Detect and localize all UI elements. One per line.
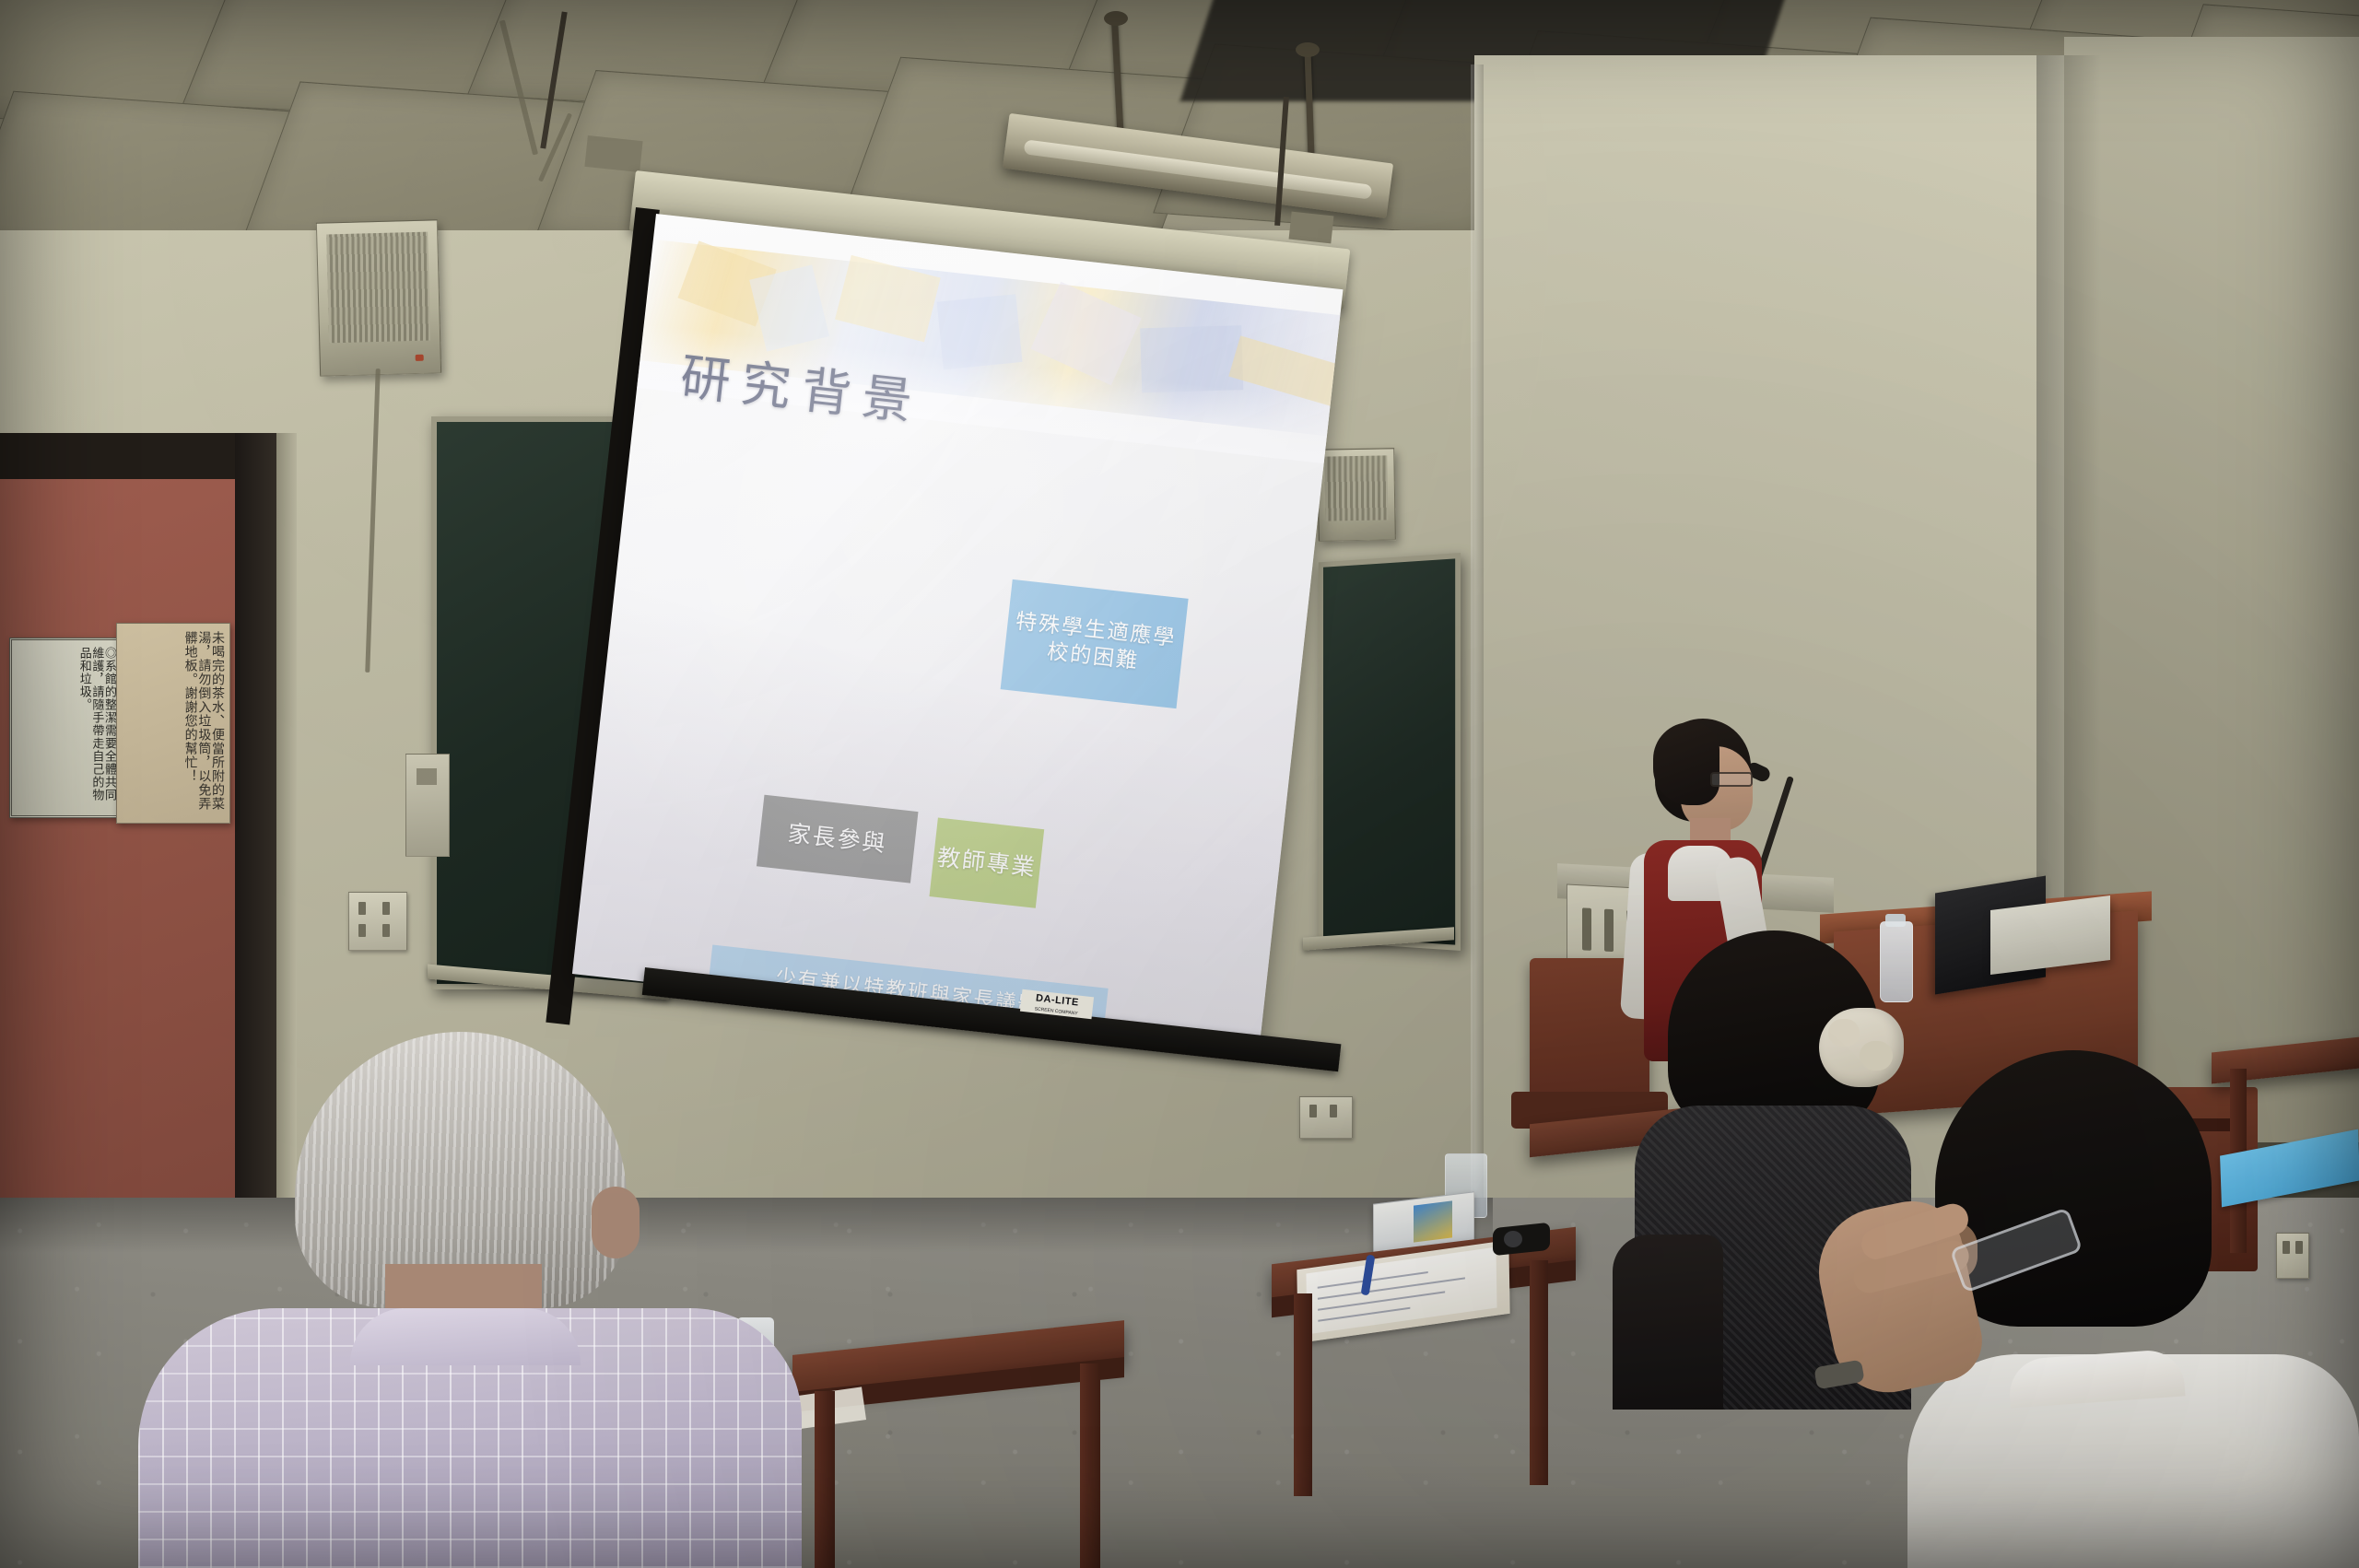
speaker-grill-icon: [327, 231, 430, 344]
slide-box-gray: 家長參與: [757, 795, 919, 883]
wall-outlet-left[interactable]: [348, 892, 407, 951]
slide-box-green: 教師專業: [929, 818, 1044, 908]
wall-speaker-right: [1317, 448, 1396, 541]
speaker-led-icon: [415, 355, 423, 361]
tissue-box-graphic: [1414, 1200, 1452, 1242]
center-desk-leg-left: [1294, 1293, 1312, 1496]
presenter-glasses-icon: [1710, 772, 1753, 787]
wall-speaker-left: [316, 219, 441, 376]
desk-leg-left: [815, 1391, 835, 1568]
audience-elderly-man: [138, 1032, 802, 1568]
elderly-man-collar: [350, 1308, 581, 1365]
light-rod-cap-right: [1296, 42, 1320, 57]
wall-outlet-center[interactable]: [1299, 1096, 1353, 1139]
screen-bracket-left: [584, 135, 642, 172]
woman-arm: [1613, 1235, 1723, 1410]
blackboard-right: [1319, 553, 1461, 951]
classroom-scene: ◎系館的整潔需要全體共同維護，請隨手帶走自己的物品和垃圾。 未喝完的茶水、便當所…: [0, 0, 2359, 1568]
slide-box-blue: 特殊學生適應學校的困難: [1001, 579, 1189, 708]
wall-pillar-edge: [1471, 64, 1484, 1216]
light-rod-cap-left: [1104, 11, 1128, 26]
wall-notice-white: ◎系館的整潔需要全體共同維護，請隨手帶走自己的物品和垃圾。: [9, 638, 123, 818]
projected-slide: 研究背景 特殊學生適應學校的困難 家長參與 教師專業 少有兼以特教班與家長議題 …: [572, 214, 1344, 1049]
presenter-hair-front: [1653, 722, 1719, 805]
speaker-grill-icon: [1324, 455, 1389, 521]
screen-bracket-right: [1289, 212, 1334, 244]
wall-control-button[interactable]: [417, 768, 437, 785]
scrunchie-fold: [1828, 1019, 1860, 1047]
center-desk-leg-right: [1530, 1260, 1548, 1485]
wall-notice-beige: 未喝完的茶水、便當所附的菜湯，請勿倒入垃圾筒，以免弄髒地板。謝謝您的幫忙！: [116, 623, 230, 824]
camera-lens-icon: [1504, 1231, 1522, 1247]
audience-man-white-shirt: [1843, 1050, 2359, 1568]
desk-leg-right: [1080, 1363, 1100, 1568]
elderly-man-ear: [592, 1187, 640, 1258]
